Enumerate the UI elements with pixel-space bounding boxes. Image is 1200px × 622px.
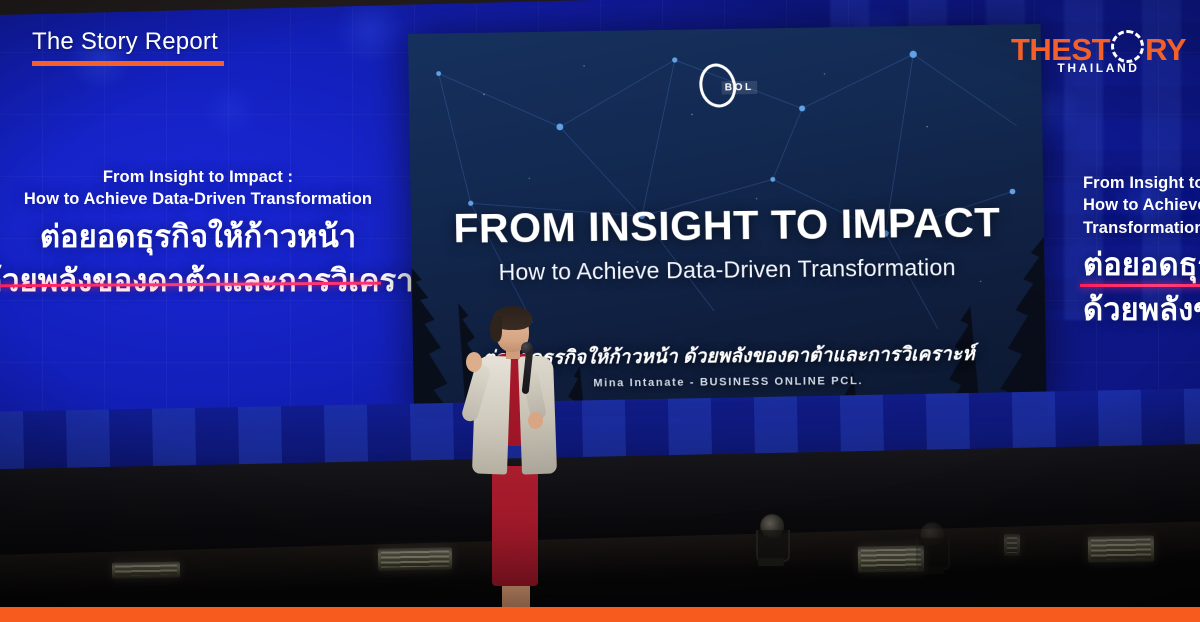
- side-right-thai-line2: ด้วยพลังของดาต้าและการวิเคราะห์: [1083, 291, 1200, 329]
- led-wash-panel: [112, 561, 180, 578]
- side-screen-right: From Insight to Impact : How to Achieve …: [1083, 172, 1200, 328]
- side-right-english-line1: From Insight to Impact :: [1083, 172, 1200, 194]
- light-base: [918, 566, 944, 574]
- the-story-thailand-logo[interactable]: THESTRY THAILAND: [1011, 30, 1186, 75]
- side-right-english-line2: How to Achieve Data-Driven Transformatio…: [1083, 194, 1200, 239]
- presenter-figure: [466, 306, 570, 606]
- bottom-accent-bar: [0, 607, 1200, 622]
- light-base: [758, 558, 784, 566]
- bol-logo: BOL: [691, 61, 765, 110]
- bol-logo-text: BOL: [722, 81, 757, 95]
- side-left-english-line1: From Insight to Impact :: [8, 166, 388, 188]
- presenter-hand-left: [466, 352, 482, 372]
- side-right-thai-line1: ต่อยอดธุรกิจให้ก้าวหน้า: [1083, 246, 1200, 284]
- event-photo-frame: From Insight to Impact : How to Achieve …: [0, 0, 1200, 622]
- logo-text-part2: RY: [1145, 32, 1186, 67]
- side-right-underline: [1080, 284, 1200, 287]
- side-left-thai-line1: ต่อยอดธุรกิจให้ก้าวหน้า: [8, 218, 388, 256]
- the-story-logo-wordmark: THESTRY: [1011, 30, 1186, 64]
- microphone-head-icon: [521, 342, 533, 354]
- report-brand: The Story Report: [32, 28, 224, 66]
- presenter-hand-right: [528, 412, 543, 429]
- presenter-hair-side: [490, 316, 502, 342]
- logo-text-part1: THEST: [1011, 32, 1110, 67]
- presenter-skirt: [492, 466, 538, 586]
- led-wash-panel: [858, 545, 924, 572]
- report-brand-underline: [32, 61, 224, 66]
- side-left-english-line2: How to Achieve Data-Driven Transformatio…: [8, 188, 388, 210]
- led-wash-panel: [378, 547, 452, 570]
- dashed-circle-o-icon: [1111, 30, 1144, 63]
- led-wash-panel: [1004, 534, 1020, 556]
- slide-title: FROM INSIGHT TO IMPACT: [411, 198, 1044, 253]
- led-wash-panel: [1088, 535, 1154, 562]
- report-brand-label: The Story Report: [32, 28, 224, 56]
- side-screen-left: From Insight to Impact : How to Achieve …: [8, 166, 388, 300]
